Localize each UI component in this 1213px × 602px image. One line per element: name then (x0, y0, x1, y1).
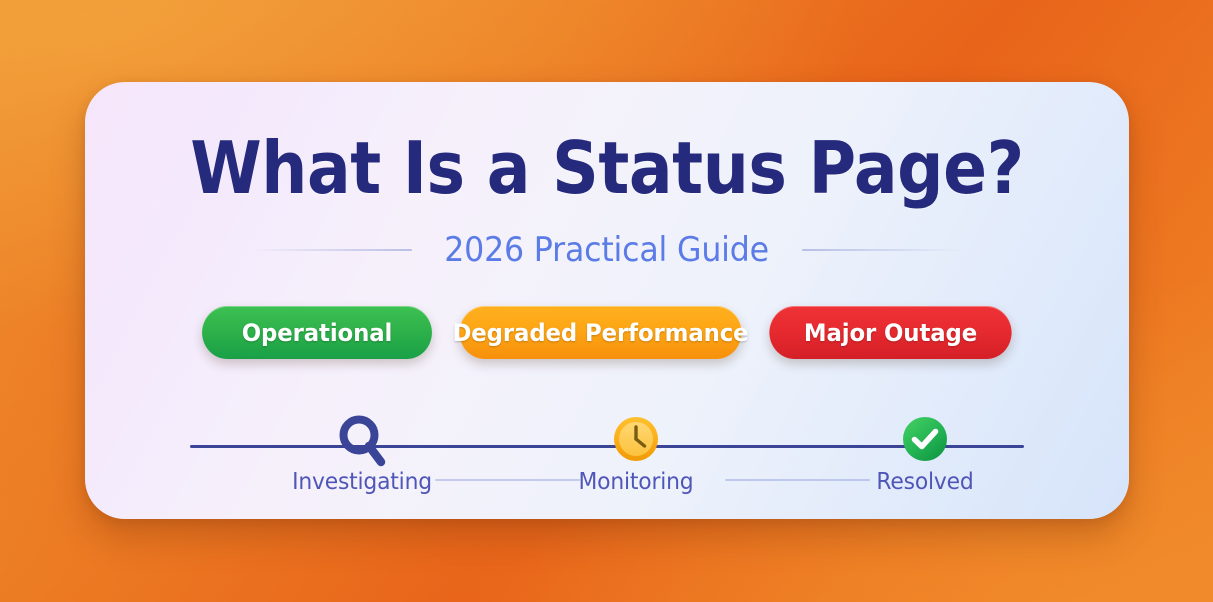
status-badge-label: Operational (242, 319, 393, 347)
timeline-step-resolved[interactable]: Resolved (845, 397, 1005, 495)
timeline-step-investigating[interactable]: Investigating (282, 397, 442, 495)
timeline-step-icon-holder (282, 397, 442, 469)
magnifier-icon (337, 415, 387, 474)
status-badge-degraded-performance[interactable]: Degraded Performance (459, 306, 741, 359)
clock-icon (612, 415, 660, 468)
status-badge-major-outage[interactable]: Major Outage (769, 306, 1011, 359)
timeline-step-icon-holder (845, 397, 1005, 469)
check-circle-icon (901, 415, 949, 468)
timeline-step-label: Monitoring (560, 469, 712, 495)
subtitle-rule-right (802, 249, 962, 251)
poster-canvas: What Is a Status Page? 2026 Practical Gu… (0, 0, 1213, 602)
page-title: What Is a Status Page? (137, 132, 1077, 204)
timeline-step-label: Resolved (849, 469, 1001, 495)
timeline-step-icon-holder (556, 397, 716, 469)
status-badge-label: Major Outage (804, 319, 977, 347)
subtitle-block: 2026 Practical Guide (85, 230, 1129, 270)
status-badge-operational[interactable]: Operational (202, 306, 432, 359)
timeline-step-monitoring[interactable]: Monitoring (556, 397, 716, 495)
subtitle-rule-left (252, 249, 412, 251)
incident-timeline: Investigating (135, 397, 1079, 497)
status-badge-row: Operational Degraded Performance Major O… (85, 306, 1129, 359)
status-badge-label: Degraded Performance (452, 319, 748, 347)
page-subtitle: 2026 Practical Guide (445, 230, 770, 270)
status-page-card: What Is a Status Page? 2026 Practical Gu… (85, 82, 1129, 519)
title-block: What Is a Status Page? (85, 132, 1129, 204)
